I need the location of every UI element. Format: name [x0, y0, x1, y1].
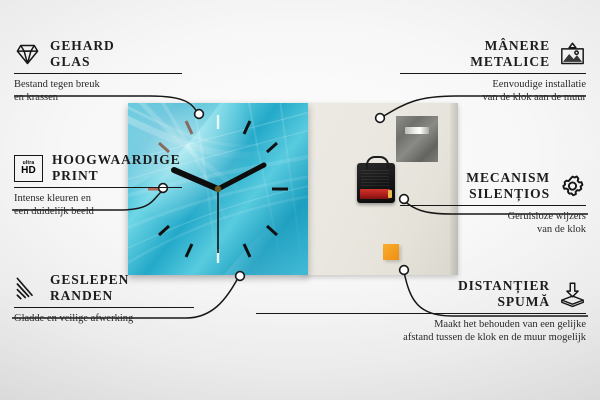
clock-center-cap	[215, 186, 221, 192]
battery	[360, 189, 390, 199]
feature-title-line2: PRINT	[52, 168, 181, 184]
foam-spacer	[383, 244, 399, 260]
feature-title-line1: GESLEPEN	[50, 272, 129, 288]
feature-divider	[14, 73, 182, 74]
hd-icon-bottom-text: HD	[21, 166, 36, 176]
feature-divider	[400, 73, 586, 74]
feature-divider	[256, 313, 586, 314]
feature-divider	[14, 187, 182, 188]
feature-gehard-glas: GEHARD GLAS Bestand tegen breuk en krass…	[14, 38, 182, 104]
feature-title-line1: HOOGWAARDIGE	[52, 152, 181, 168]
ultra-hd-icon: ultra HD	[14, 155, 43, 182]
feature-sub-line2: van de klok aan de muur	[400, 91, 586, 104]
feature-title-line2: METALICE	[470, 54, 550, 70]
feature-title-line1: DISTANȚIER	[458, 278, 550, 294]
feature-mecanism-silentios: MECANISM SILENȚIOS Geruisloze wijzers va…	[400, 170, 586, 236]
feature-sub-line1: Intense kleuren en	[14, 192, 182, 205]
feature-sub-line1: Bestand tegen breuk	[14, 78, 182, 91]
mechanism-grill	[361, 170, 389, 186]
gear-icon	[559, 173, 586, 200]
mechanism-loop	[366, 156, 389, 169]
feature-title-line1: GEHARD	[50, 38, 115, 54]
feature-sub-line2: afstand tussen de klok en de muur mogeli…	[256, 331, 586, 344]
feature-sub-line1: Geruisloze wijzers	[400, 210, 586, 223]
feature-sub-line1: Eenvoudige installatie	[400, 78, 586, 91]
infographic-canvas: GEHARD GLAS Bestand tegen breuk en krass…	[0, 0, 600, 400]
feature-title-line2: RANDEN	[50, 288, 129, 304]
feature-title-line2: GLAS	[50, 54, 115, 70]
feature-divider	[14, 307, 194, 308]
metal-hanger	[396, 116, 438, 162]
diamond-icon	[14, 41, 41, 68]
spacer-press-icon	[559, 281, 586, 308]
quartz-mechanism	[357, 163, 395, 203]
hanger-slot	[405, 127, 429, 134]
feature-sub-line1: Gladde en veilige afwerking	[14, 312, 194, 325]
feature-hoogwaardige-print: ultra HD HOOGWAARDIGE PRINT Intense kleu…	[14, 152, 182, 218]
feature-sub-line2: en krassen	[14, 91, 182, 104]
feature-manere-metalice: MÂNERE METALICE Eenvoudige installatie v…	[400, 38, 586, 104]
beveled-edge-icon	[14, 275, 41, 302]
feature-geslepen-randen: GESLEPEN RANDEN Gladde en veilige afwerk…	[14, 272, 194, 325]
picture-frame-icon	[559, 41, 586, 68]
feature-title-line2: SPUMĂ	[458, 294, 550, 310]
feature-sub-line2: een duidelijk beeld	[14, 205, 182, 218]
feature-title-line2: SILENȚIOS	[466, 186, 550, 202]
feature-title-line1: MÂNERE	[470, 38, 550, 54]
feature-distantier-spuma: DISTANȚIER SPUMĂ Maakt het behouden van …	[256, 278, 586, 344]
battery-terminal	[388, 190, 392, 198]
feature-sub-line1: Maakt het behouden van een gelijke	[256, 318, 586, 331]
feature-sub-line2: van de klok	[400, 223, 586, 236]
minute-hand	[218, 165, 264, 189]
feature-title-line1: MECANISM	[466, 170, 550, 186]
feature-divider	[400, 205, 586, 206]
